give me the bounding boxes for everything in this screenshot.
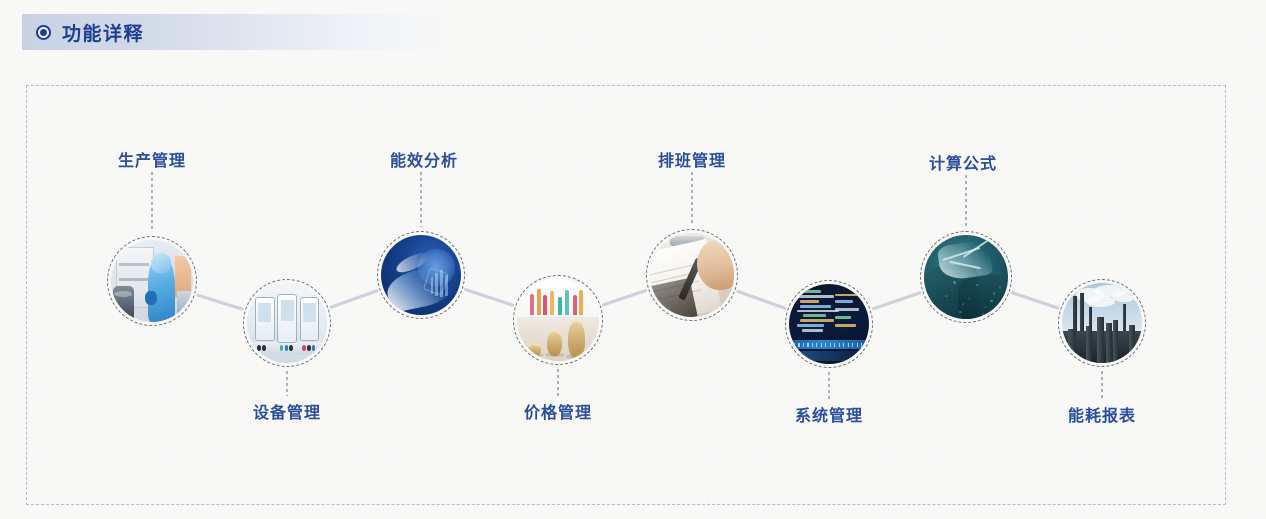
node-circle-calculation-formula[interactable]	[920, 231, 1012, 323]
industrial-lab-worker-photo	[111, 240, 193, 322]
node-label-calculation-formula: 计算公式	[883, 150, 1043, 174]
node-label-energy-consumption-report: 能耗报表	[1022, 402, 1182, 426]
teal-aerial-abstract-photo	[924, 235, 1008, 319]
blue-data-tech-photo	[381, 235, 461, 315]
node-circle-energy-consumption-report[interactable]	[1058, 279, 1146, 367]
node-label-energy-efficiency-analysis: 能效分析	[344, 147, 504, 171]
section-header: 功能详释	[22, 14, 452, 50]
node-label-shift-management: 排班管理	[612, 147, 772, 171]
node-circle-price-management[interactable]	[513, 275, 603, 365]
coin-stacks-chart-photo	[517, 279, 599, 361]
clipboard-writing-photo	[650, 233, 734, 317]
control-panel-meters-photo	[247, 283, 327, 363]
target-dot-icon	[36, 25, 51, 40]
node-circle-shift-management[interactable]	[646, 229, 738, 321]
node-circle-energy-efficiency-analysis[interactable]	[377, 231, 465, 319]
node-circle-system-management[interactable]	[785, 280, 873, 368]
node-circle-equipment-management[interactable]	[243, 279, 331, 367]
node-label-system-management: 系统管理	[749, 402, 909, 426]
terminal-code-screen-photo	[789, 284, 869, 364]
node-label-price-management: 价格管理	[478, 399, 638, 423]
node-label-equipment-management: 设备管理	[207, 399, 367, 423]
refinery-smokestacks-photo	[1062, 283, 1142, 363]
node-label-production-management: 生产管理	[72, 147, 232, 171]
node-circle-production-management[interactable]	[107, 236, 197, 326]
page-title: 功能详释	[62, 19, 144, 46]
